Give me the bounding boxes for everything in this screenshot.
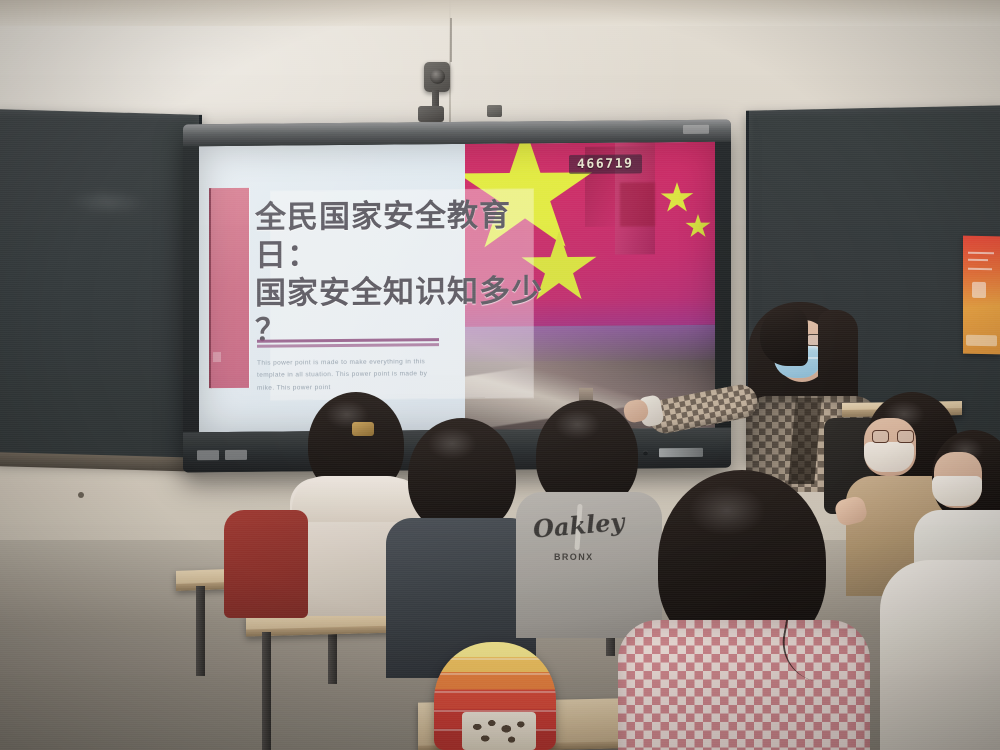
slide-title-line-2: 国家安全知识知多少 <box>255 273 555 313</box>
smartboard-screen[interactable]: 466719 全民国家安全教育日： 国家安全知识知多少 ？ <box>199 142 715 433</box>
student-glasses-icon <box>872 430 914 443</box>
hair-clip-icon <box>352 422 374 436</box>
backpack-leopard-print <box>468 716 534 748</box>
desk-leg <box>262 632 271 750</box>
student-face-mask <box>864 442 914 472</box>
presentation-slide: 466719 全民国家安全教育日： 国家安全知识知多少 ？ <box>199 142 715 433</box>
camera-cable <box>450 18 452 62</box>
ceiling-edge <box>0 0 1000 26</box>
student-pink-check-foreground <box>632 470 852 750</box>
student-clothing <box>880 560 1000 750</box>
student-cream-coat-foreground <box>880 560 1000 750</box>
slide-ticker-number: 466719 <box>569 154 642 174</box>
wall-sensor-icon <box>487 105 502 117</box>
student-head <box>408 418 516 534</box>
wall-screw-dot <box>78 492 84 498</box>
slide-body-text: This power point is made to make everyth… <box>257 356 439 395</box>
classroom-scene: 466719 全民国家安全教育日： 国家安全知识知多少 ？ <box>0 0 1000 750</box>
slide-accent-tick <box>213 352 221 362</box>
slide-title-line-1: 全民国家安全教育日： <box>255 197 555 275</box>
flag-star-small-1 <box>660 182 694 214</box>
student-face-mask <box>932 476 982 506</box>
presenter-hair-front <box>760 306 808 366</box>
student-red-jacket-left <box>224 510 308 618</box>
hoodie-sub-print: BRONX <box>554 552 594 562</box>
poster-badge <box>972 282 986 298</box>
smartboard-control-buttons[interactable] <box>197 450 247 460</box>
smartboard-label-strip <box>659 448 703 457</box>
classroom-camera-icon <box>424 62 450 92</box>
wall-poster <box>963 236 1000 355</box>
slide-title: 全民国家安全教育日： 国家安全知识知多少 ？ <box>255 197 555 351</box>
camera-wall-bracket <box>418 106 444 122</box>
chalk-smudge <box>68 189 148 217</box>
flag-star-small-2 <box>685 214 711 239</box>
poster-footer <box>966 335 997 347</box>
slide-divider-rule <box>257 338 439 348</box>
desk-leg <box>196 586 205 676</box>
student-dark-jacket <box>386 418 536 668</box>
left-blackboard <box>0 109 202 467</box>
camera-lens-icon <box>430 69 445 84</box>
smartboard-brand-logo <box>683 125 709 134</box>
